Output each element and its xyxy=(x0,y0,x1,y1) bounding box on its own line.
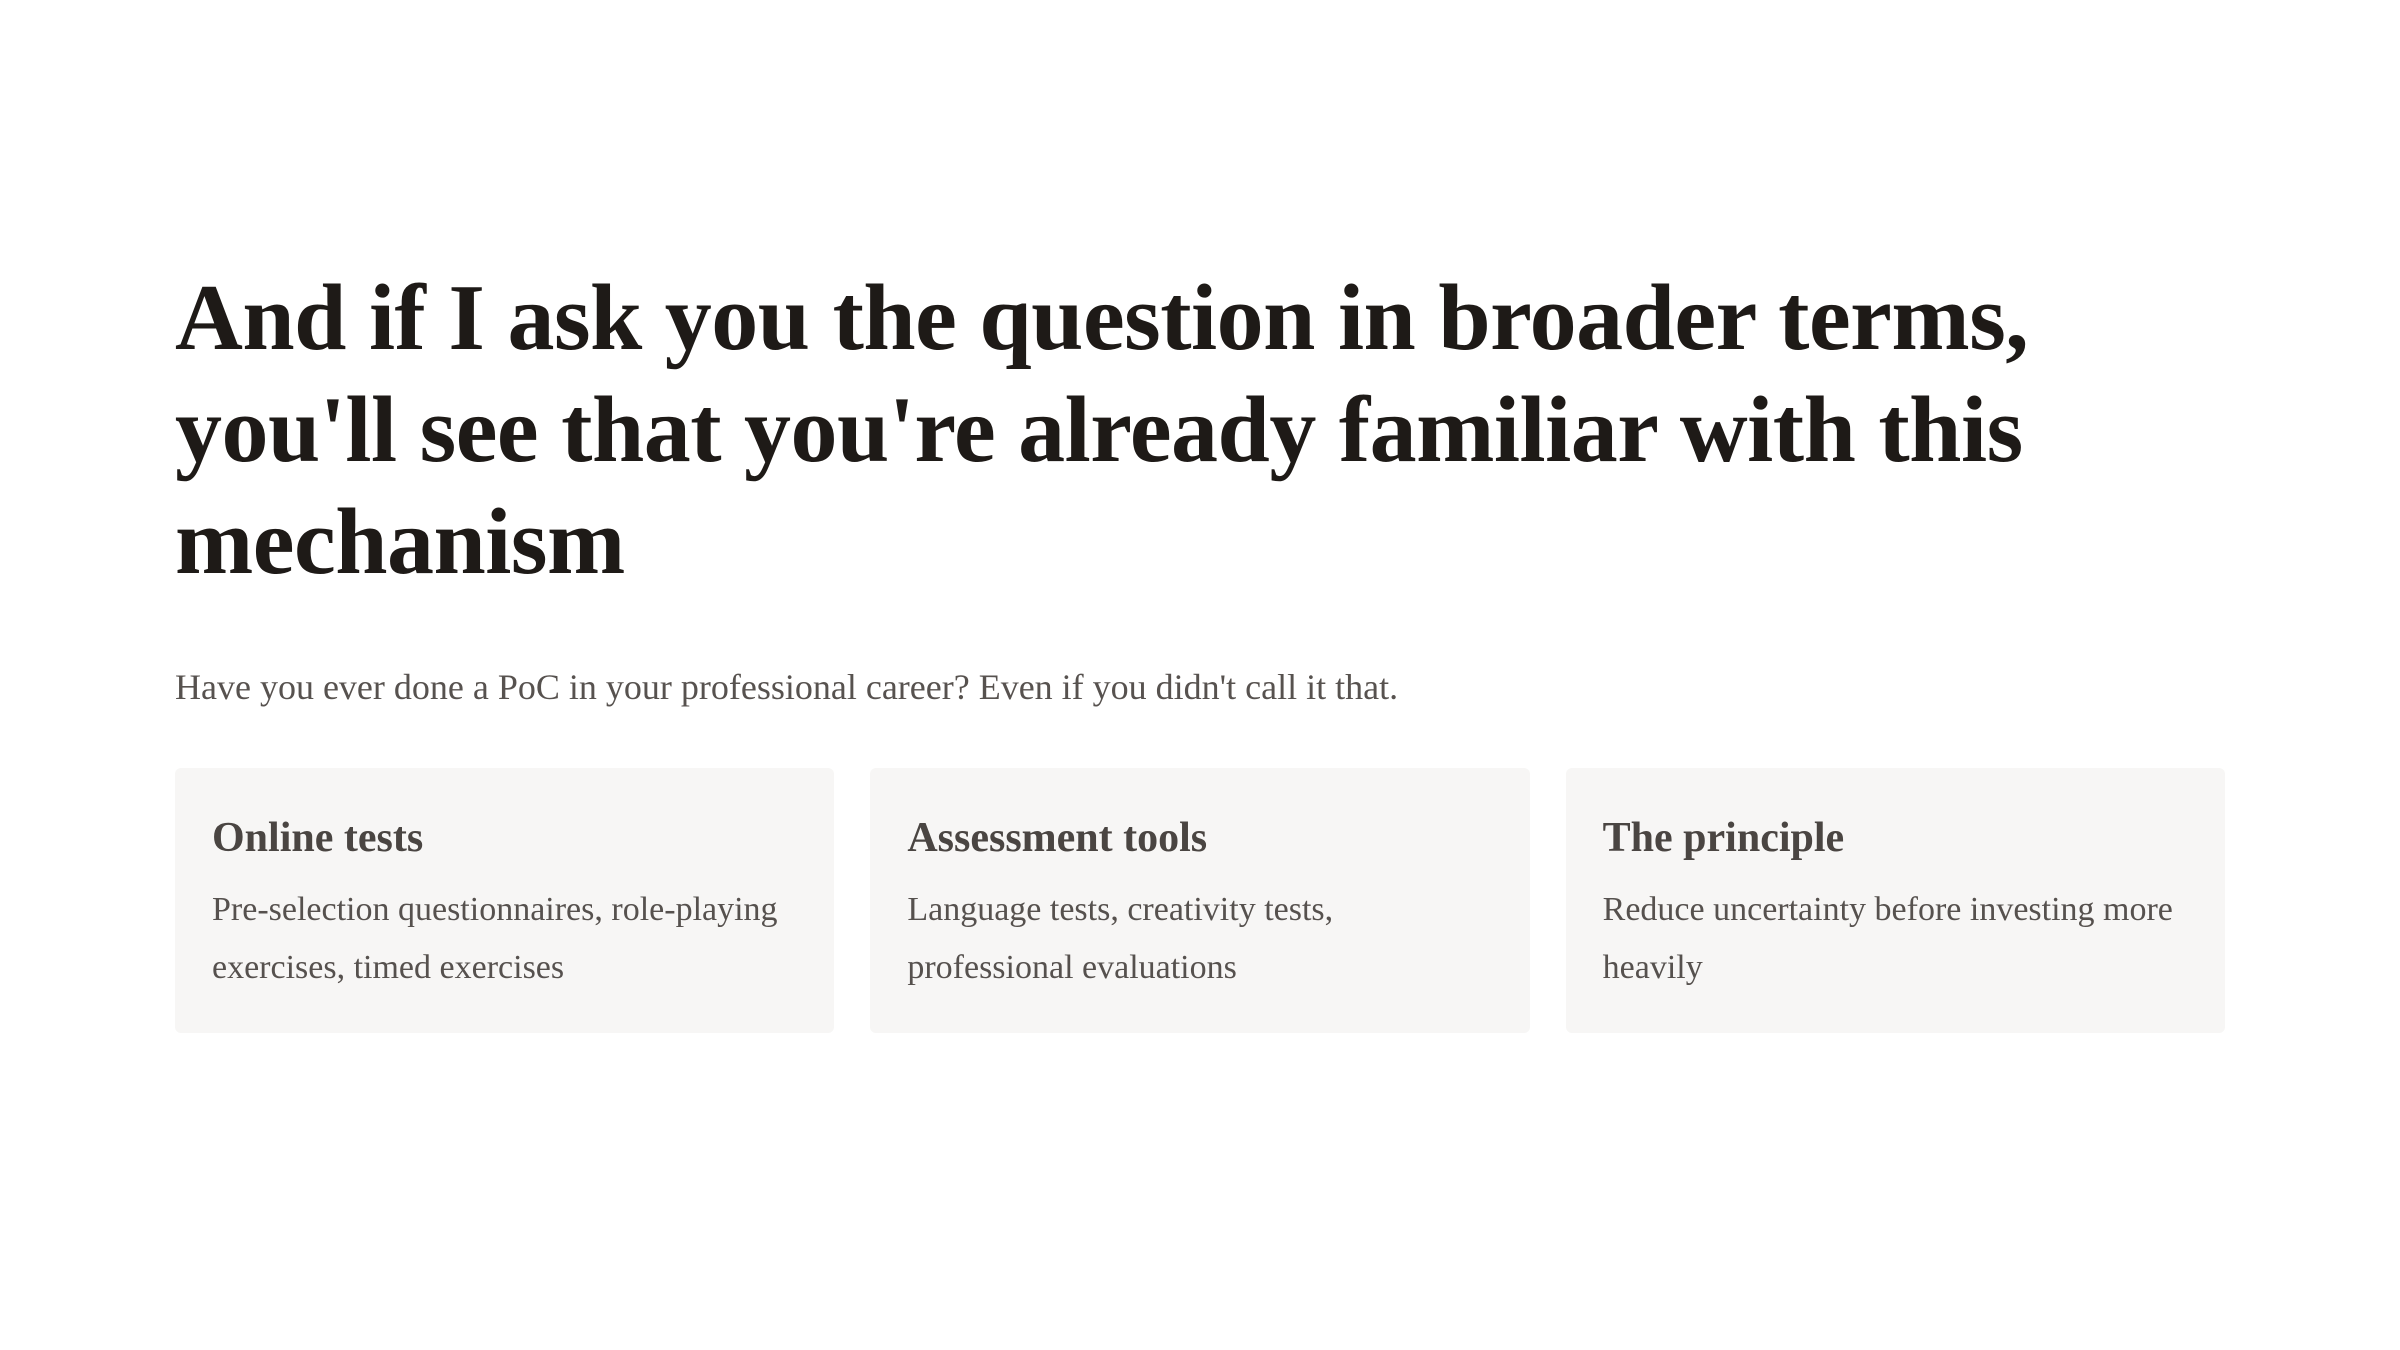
card-online-tests: Online tests Pre-selection questionnaire… xyxy=(175,768,834,1033)
slide-subtitle: Have you ever done a PoC in your profess… xyxy=(175,598,2225,711)
card-the-principle: The principle Reduce uncertainty before … xyxy=(1566,768,2225,1033)
card-title: The principle xyxy=(1603,815,2185,861)
card-list: Online tests Pre-selection questionnaire… xyxy=(175,768,2225,1033)
card-title: Assessment tools xyxy=(907,815,1489,861)
card-assessment-tools: Assessment tools Language tests, creativ… xyxy=(870,768,1529,1033)
slide-content: And if I ask you the question in broader… xyxy=(175,0,2225,1033)
card-body: Pre-selection questionnaires, role-playi… xyxy=(212,861,794,997)
card-body: Language tests, creativity tests, profes… xyxy=(907,861,1489,997)
card-title: Online tests xyxy=(212,815,794,861)
slide-root: And if I ask you the question in broader… xyxy=(0,0,2400,1350)
card-body: Reduce uncertainty before investing more… xyxy=(1603,861,2185,997)
page-title: And if I ask you the question in broader… xyxy=(175,0,2185,598)
